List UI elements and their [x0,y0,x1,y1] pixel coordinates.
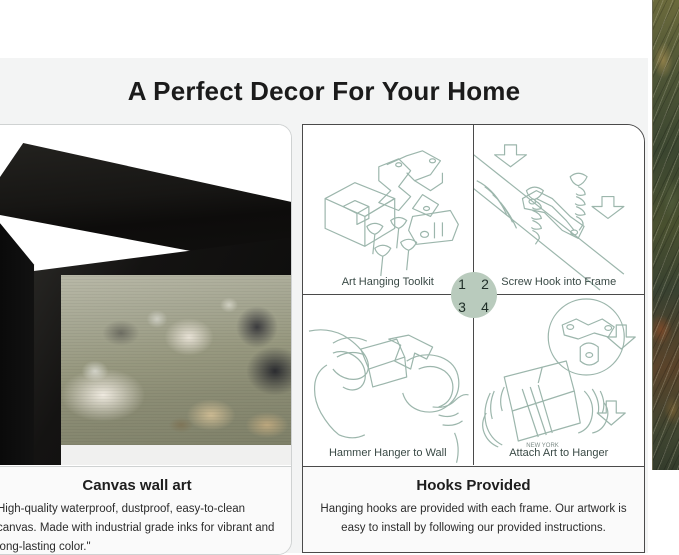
artwork-image [61,275,291,445]
screw-hook-icon [474,125,645,294]
badge-number-1: 1 [458,277,466,291]
instruction-step-1: Art Hanging Toolkit [303,125,474,295]
card-caption-hooks: Hooks Provided Hanging hooks are provide… [303,466,644,553]
image-texture [653,0,679,470]
toolkit-icon [303,125,473,294]
attach-art-icon: NEW YORK [474,295,645,465]
badge-number-4: 4 [481,300,489,314]
card-title: Hooks Provided [317,477,630,494]
instruction-step-2: Screw Hook into Frame [474,125,645,295]
artwork-texture [61,275,291,445]
step-label: Hammer Hanger to Wall [303,447,473,459]
top-whitespace [0,0,648,58]
step-label: Attach Art to Hanger [474,447,645,459]
hammer-hanger-icon [303,295,473,465]
card-description: High-quality waterproof, dustproof, easy… [0,500,277,555]
instruction-step-3: Hammer Hanger to Wall [303,295,474,465]
product-detail-page: A Perfect Decor For Your Home Canvas wal… [0,0,679,553]
card-caption-canvas: Canvas wall art High-quality waterproof,… [0,466,291,554]
feature-card-hooks-provided: Art Hanging Toolkit [302,124,645,553]
step-label: Screw Hook into Frame [474,276,645,288]
feature-card-canvas-wall-art: Canvas wall art High-quality waterproof,… [0,124,292,555]
artwork-lower-fade [61,445,291,465]
card-description: Hanging hooks are provided with each fra… [317,500,630,538]
adjacent-product-image-strip[interactable] [652,0,679,470]
badge-number-3: 3 [458,300,466,314]
instruction-step-4: NEW YORK Attach Art to Hanger [474,295,645,465]
badge-number-2: 2 [481,277,489,291]
page-title: A Perfect Decor For Your Home [0,76,648,107]
step-number-badge: 1 2 3 4 [451,272,497,318]
framed-canvas-photo [0,125,291,465]
card-title: Canvas wall art [0,477,277,494]
step-label: Art Hanging Toolkit [303,276,473,288]
